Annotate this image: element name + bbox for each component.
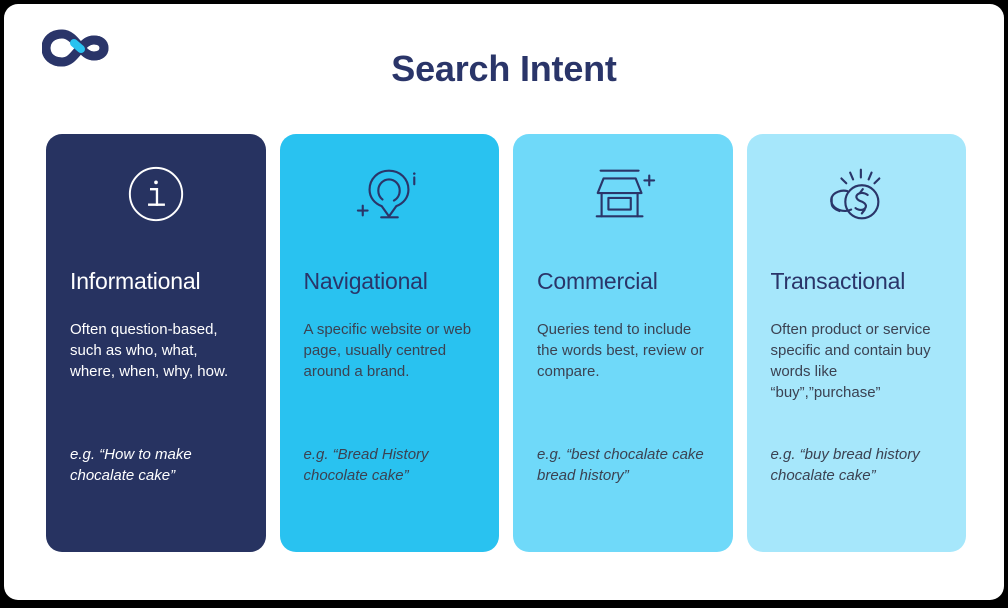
card-example: e.g. “Bread History chocolate cake” [304,444,480,486]
card-description: Often product or service specific and co… [771,319,943,403]
intent-card-navigational: Navigational A specific website or web p… [280,134,500,552]
header: Search Intent [4,4,1004,122]
intent-card-informational: Informational Often question-based, such… [46,134,266,552]
info-circle-icon [70,134,242,254]
card-example: e.g. “best chocalate cake bread history” [537,444,713,486]
intent-card-list: Informational Often question-based, such… [46,134,966,552]
card-description: Often question-based, such as who, what,… [70,319,242,382]
page-title: Search Intent [4,48,1004,90]
card-example: e.g. “buy bread history chocalate cake” [771,444,947,486]
card-heading: Navigational [304,268,476,295]
card-heading: Transactional [771,268,943,295]
intent-card-commercial: Commercial Queries tend to include the w… [513,134,733,552]
infographic-canvas: Search Intent Informational Often questi… [4,4,1004,600]
card-description: A specific website or web page, usually … [304,319,476,382]
card-heading: Informational [70,268,242,295]
coins-icon [771,134,943,254]
map-pin-icon [304,134,476,254]
card-example: e.g. “How to make chocalate cake” [70,444,246,486]
card-description: Queries tend to include the words best, … [537,319,709,382]
intent-card-transactional: Transactional Often product or service s… [747,134,967,552]
storefront-icon [537,134,709,254]
card-heading: Commercial [537,268,709,295]
